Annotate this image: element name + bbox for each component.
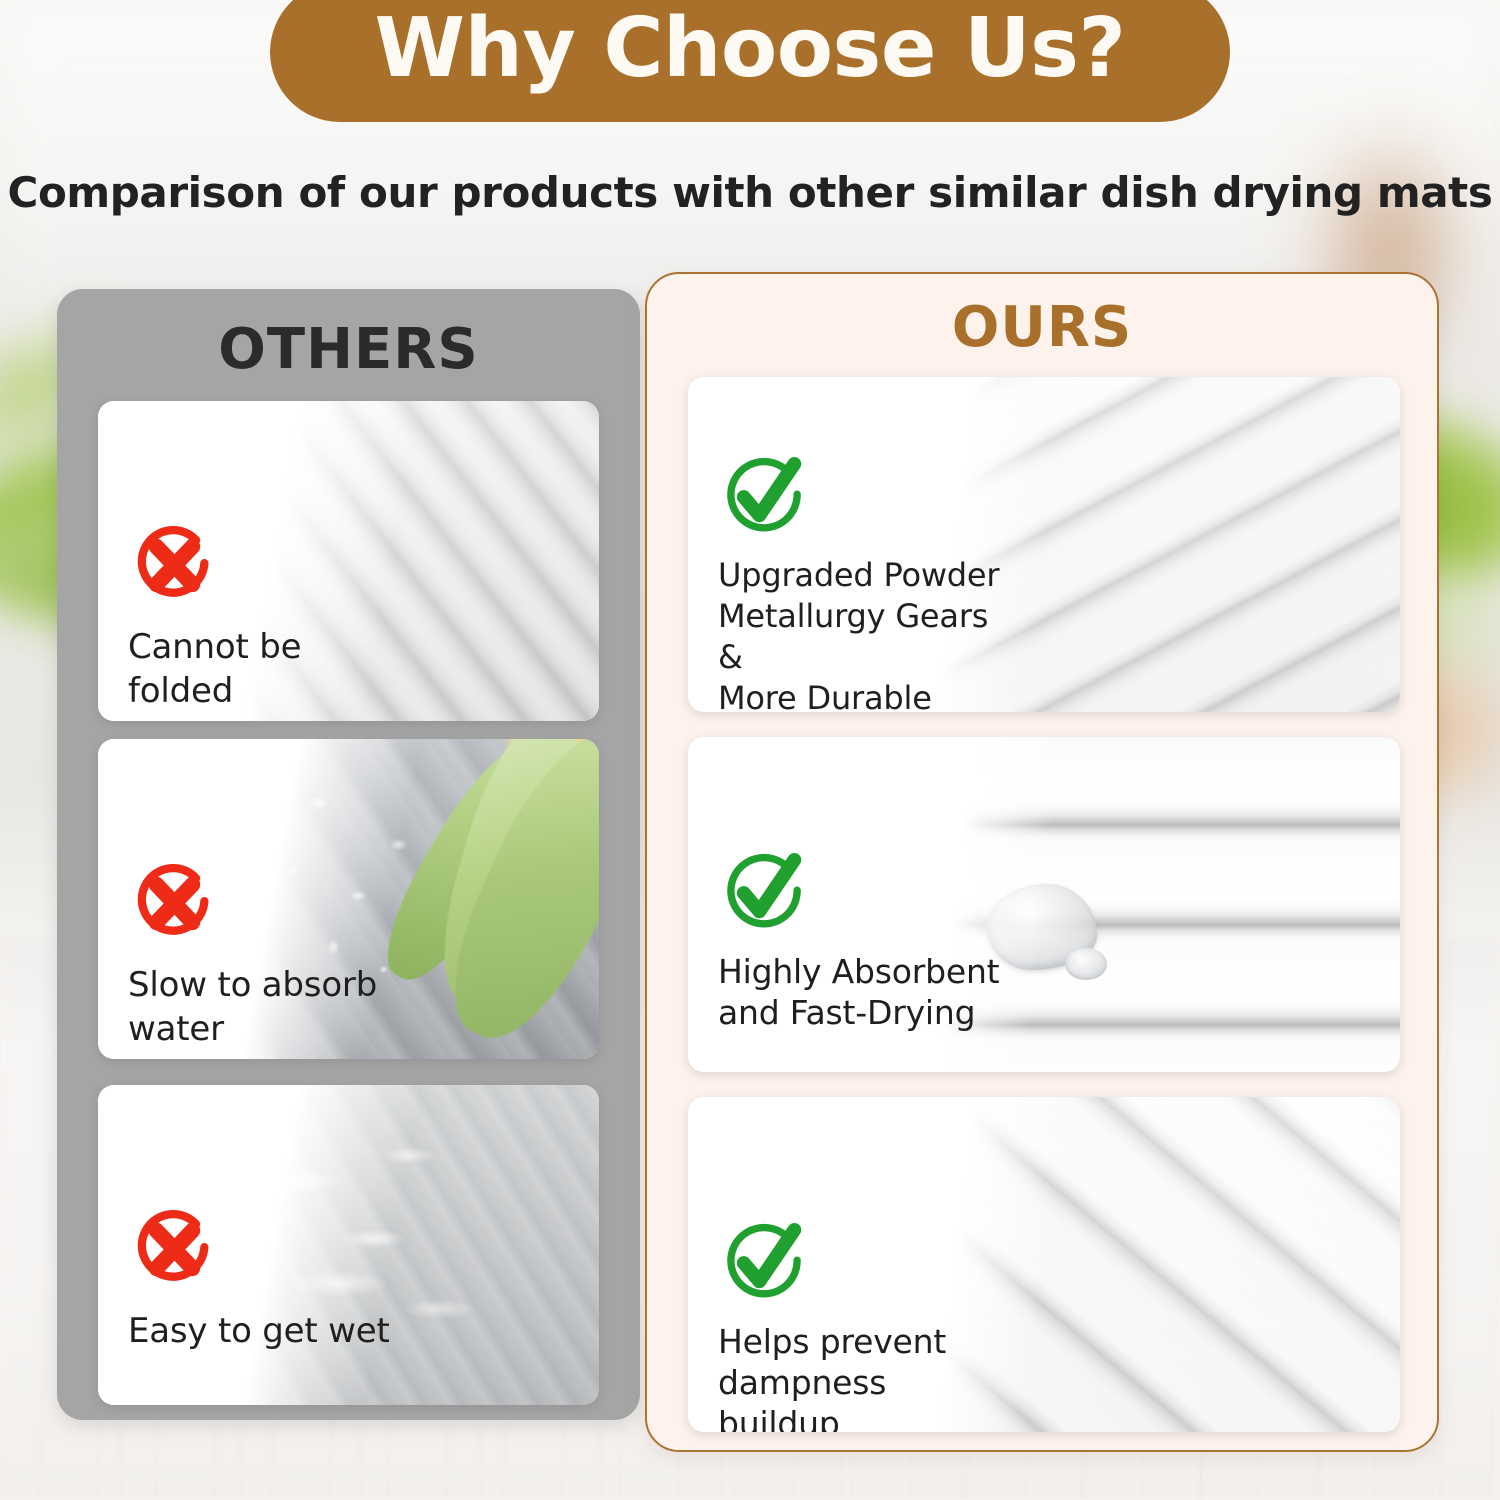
others-card-slow-to-absorb-water: Slow to absorb water xyxy=(98,739,599,1059)
ours-panel-heading: OURS xyxy=(647,274,1437,356)
ours-card-label: Helps prevent dampness buildup xyxy=(718,1321,1008,1432)
others-panel: OTHERS Cannot be folded xyxy=(57,289,640,1420)
others-card-label: Easy to get wet xyxy=(128,1309,398,1353)
ours-panel: OURS Upgraded Powder Metallurgy Gears & … xyxy=(645,272,1439,1452)
red-cross-circle-icon xyxy=(128,1203,220,1295)
ours-card-upgraded-powder-metallurgy-gears: Upgraded Powder Metallurgy Gears & More … xyxy=(688,377,1400,712)
ours-card-highly-absorbent-fast-drying: Highly Absorbent and Fast-Drying xyxy=(688,737,1400,1072)
ours-card-content: Upgraded Powder Metallurgy Gears & More … xyxy=(718,451,1008,712)
others-panel-heading: OTHERS xyxy=(57,289,640,378)
ours-card-label: Highly Absorbent and Fast-Drying xyxy=(718,951,1008,1033)
green-check-circle-icon xyxy=(718,451,810,543)
others-card-easy-to-get-wet: Easy to get wet xyxy=(98,1085,599,1405)
ours-card-helps-prevent-dampness-buildup: Helps prevent dampness buildup xyxy=(688,1097,1400,1432)
green-check-circle-icon xyxy=(718,1217,810,1309)
others-card-label: Cannot be folded xyxy=(128,625,398,713)
red-cross-circle-icon xyxy=(128,857,220,949)
ours-card-content: Helps prevent dampness buildup xyxy=(718,1217,1008,1432)
page-subtitle: Comparison of our products with other si… xyxy=(0,168,1500,217)
page-title-banner: Why Choose Us? xyxy=(270,0,1230,122)
red-cross-circle-icon xyxy=(128,519,220,611)
others-card-cannot-be-folded: Cannot be folded xyxy=(98,401,599,721)
others-card-content: Slow to absorb water xyxy=(128,857,398,1051)
ours-card-content: Highly Absorbent and Fast-Drying xyxy=(718,847,1008,1033)
others-card-label: Slow to absorb water xyxy=(128,963,398,1051)
green-check-circle-icon xyxy=(718,847,810,939)
others-card-content: Easy to get wet xyxy=(128,1203,398,1353)
ours-card-label: Upgraded Powder Metallurgy Gears & More … xyxy=(718,555,1008,712)
others-card-content: Cannot be folded xyxy=(128,519,398,713)
page-title: Why Choose Us? xyxy=(375,8,1126,96)
